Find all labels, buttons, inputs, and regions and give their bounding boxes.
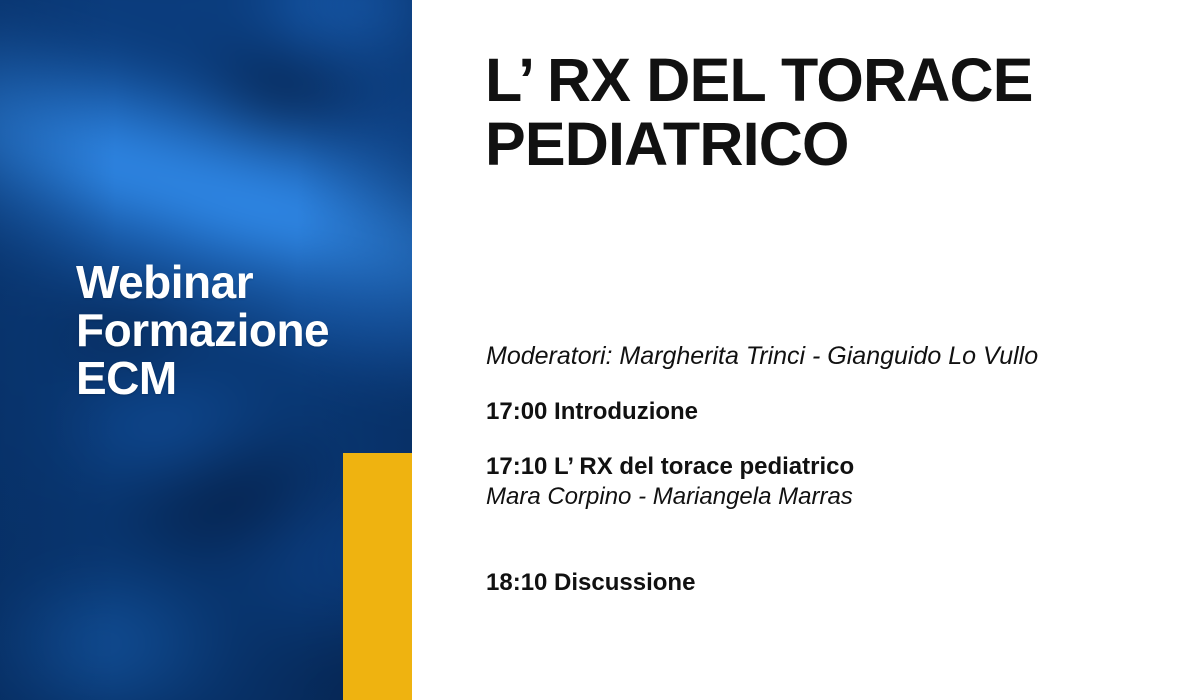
- moderators-line: Moderatori: Margherita Trinci - Gianguid…: [486, 341, 1166, 371]
- agenda-item-title: 17:00 Introduzione: [486, 397, 1166, 427]
- right-content-panel: L’ RX DEL TORACE PEDIATRICO Moderatori: …: [412, 0, 1200, 700]
- agenda-item: 17:00 Introduzione: [486, 397, 1166, 427]
- webinar-poster: Webinar Formazione ECM NO 17:00 L’ RX DE…: [0, 0, 1200, 700]
- agenda-item-speakers: Mara Corpino - Mariangela Marras: [486, 482, 1166, 512]
- event-title: L’ RX DEL TORACE PEDIATRICO: [485, 48, 1145, 176]
- date-time-strip: NO 17:00: [343, 453, 412, 700]
- agenda-item-title: 17:10 L’ RX del torace pediatrico: [486, 452, 1166, 482]
- webinar-headline: Webinar Formazione ECM: [76, 258, 329, 402]
- agenda-item-title: 18:10 Discussione: [486, 568, 1166, 598]
- agenda-item: 17:10 L’ RX del torace pediatrico Mara C…: [486, 452, 1166, 512]
- agenda-block: Moderatori: Margherita Trinci - Gianguid…: [486, 341, 1166, 598]
- agenda-item: 18:10 Discussione: [486, 568, 1166, 598]
